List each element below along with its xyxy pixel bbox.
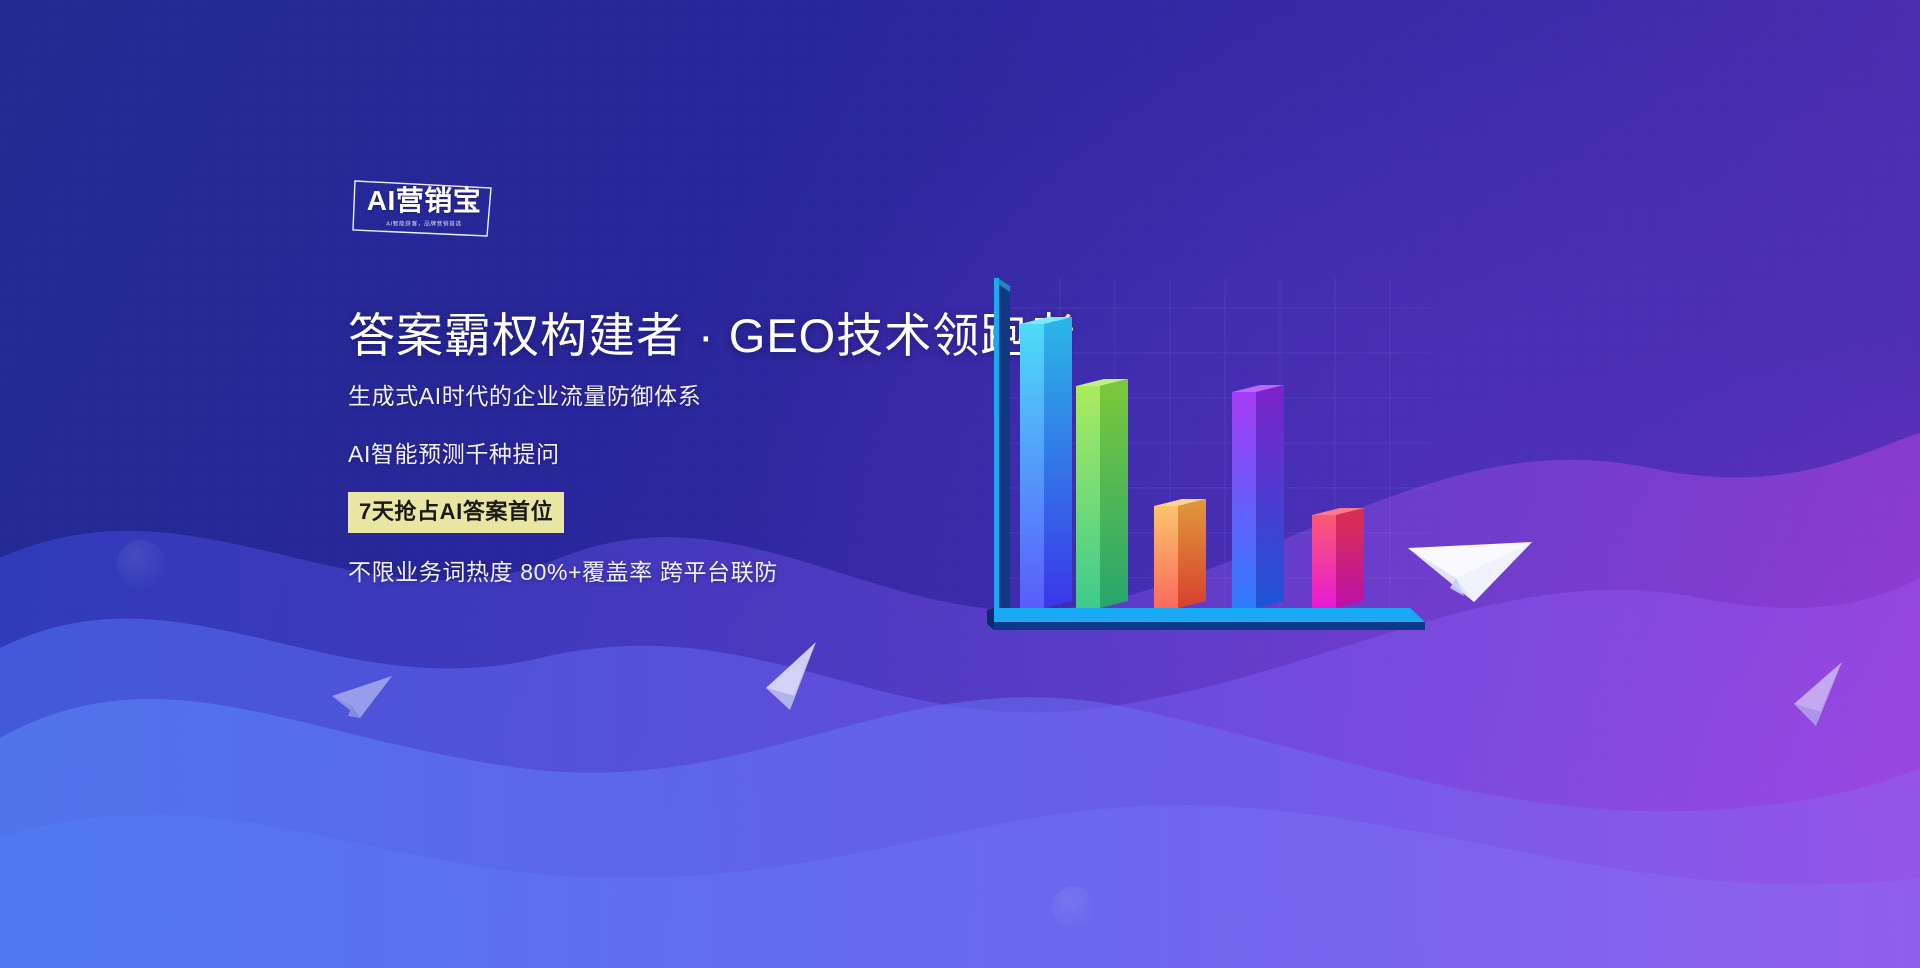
logo[interactable]: AI营销宝 AI智能获客，品牌营销首选 bbox=[352, 178, 494, 240]
bar-2 bbox=[1076, 379, 1128, 608]
bar-4 bbox=[1232, 385, 1284, 608]
bar-5 bbox=[1312, 508, 1364, 608]
highlight-badge: 7天抢占AI答案首位 bbox=[348, 492, 564, 533]
bar-3 bbox=[1154, 499, 1206, 608]
chart-base bbox=[987, 608, 1425, 630]
chart-bars bbox=[1020, 317, 1364, 608]
bar-1 bbox=[1020, 317, 1072, 608]
bar-chart-illustration bbox=[960, 278, 1440, 678]
chart-y-axis bbox=[994, 278, 1010, 614]
logo-wordmark: AI营销宝 bbox=[366, 184, 482, 218]
hero-banner: AI营销宝 AI智能获客，品牌营销首选 答案霸权构建者 · GEO技术领跑者 生… bbox=[0, 0, 1920, 968]
logo-tagline: AI智能获客，品牌营销首选 bbox=[369, 219, 479, 228]
